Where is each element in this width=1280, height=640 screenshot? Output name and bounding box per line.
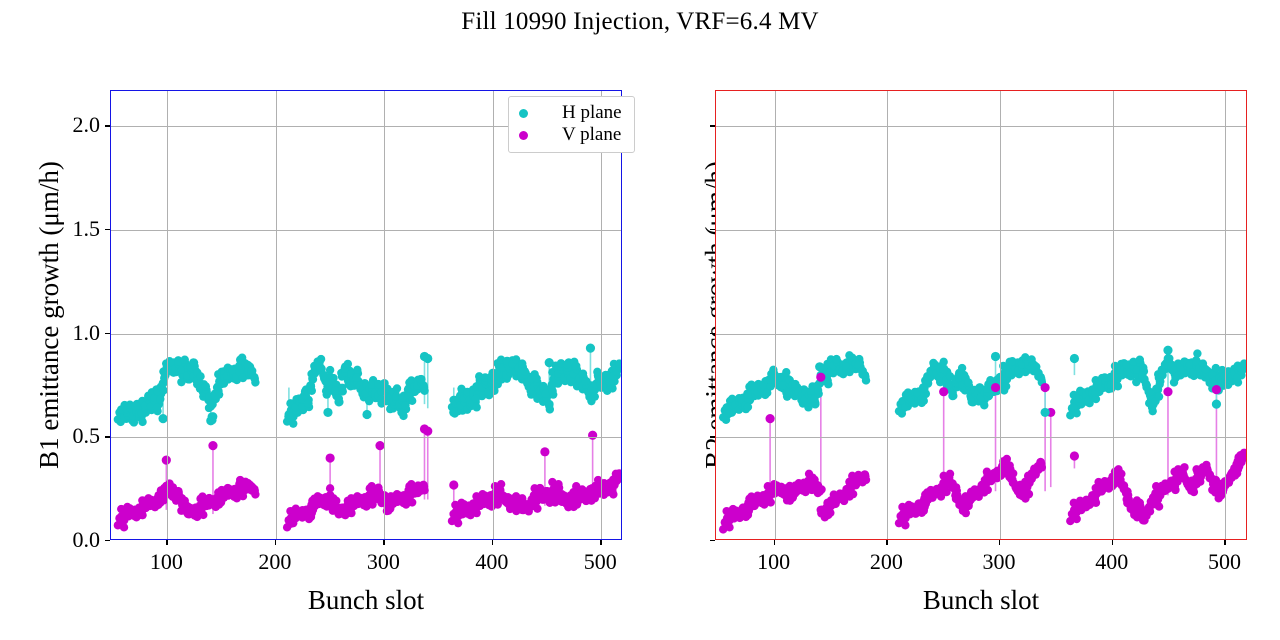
y-axis-tick-label: 2.0 [10,112,100,138]
gridline-vertical [1113,91,1114,539]
y-axis-tick-label: 0.5 [10,423,100,449]
y-axis-tick [105,436,110,437]
legend-label-v-plane: V plane [562,124,621,146]
v-plane-marker-icon [519,131,528,140]
x-axis-tick-label: 200 [870,549,903,575]
gridline-horizontal [716,437,1246,438]
legend: H plane V plane [508,96,635,153]
gridline-horizontal [716,230,1246,231]
x-axis-tick-label: 500 [1208,549,1241,575]
x-axis-tick [774,540,775,545]
x-axis-tick [275,540,276,545]
legend-item-h-plane[interactable]: H plane [519,102,622,124]
gridline-horizontal [716,334,1246,335]
plot-area-b1[interactable] [110,90,622,540]
x-axis-tick-label: 300 [983,549,1016,575]
gridline-horizontal [111,437,621,438]
gridline-horizontal [111,230,621,231]
x-axis-label-b1: Bunch slot [110,585,622,616]
x-axis-tick [886,540,887,545]
gridline-horizontal [111,334,621,335]
gridline-vertical [493,91,494,539]
gridline-vertical [1225,91,1226,539]
x-axis-tick-label: 400 [1095,549,1128,575]
data-series-b2 [716,91,1247,540]
figure-root: Fill 10990 Injection, VRF=6.4 MV B1 emit… [0,0,1280,640]
legend-item-v-plane[interactable]: V plane [519,124,622,146]
gridline-vertical [601,91,602,539]
h-plane-marker-icon [519,109,528,118]
x-axis-tick-label: 300 [367,549,400,575]
y-axis-label-b1: B1 emittance growth (μm/h) [34,90,65,540]
y-axis-tick [710,125,715,126]
y-axis-tick-label: 1.5 [10,216,100,242]
legend-label-h-plane: H plane [562,102,622,124]
x-axis-tick-label: 100 [150,549,183,575]
y-axis-tick [710,540,715,541]
y-axis-tick [710,436,715,437]
y-axis-tick [710,333,715,334]
plot-area-b2[interactable] [715,90,1247,540]
y-axis-tick-label: 1.0 [10,320,100,346]
gridline-horizontal [716,126,1246,127]
x-axis-tick [383,540,384,545]
x-axis-tick [166,540,167,545]
gridline-vertical [1000,91,1001,539]
gridline-vertical [384,91,385,539]
y-axis-tick [710,229,715,230]
x-axis-tick [1224,540,1225,545]
data-series-b1 [111,91,622,540]
x-axis-label-b2: Bunch slot [715,585,1247,616]
y-axis-tick-label: 0.0 [10,527,100,553]
x-axis-tick [1112,540,1113,545]
x-axis-tick-label: 100 [757,549,790,575]
x-axis-tick-label: 500 [584,549,617,575]
y-axis-tick [105,229,110,230]
x-axis-tick [492,540,493,545]
y-axis-tick [105,333,110,334]
gridline-vertical [775,91,776,539]
gridline-vertical [276,91,277,539]
figure-title: Fill 10990 Injection, VRF=6.4 MV [0,8,1280,36]
y-axis-tick [105,125,110,126]
x-axis-tick-label: 400 [475,549,508,575]
y-axis-tick [105,540,110,541]
gridline-vertical [887,91,888,539]
gridline-vertical [167,91,168,539]
x-axis-tick-label: 200 [258,549,291,575]
x-axis-tick [600,540,601,545]
x-axis-tick [999,540,1000,545]
